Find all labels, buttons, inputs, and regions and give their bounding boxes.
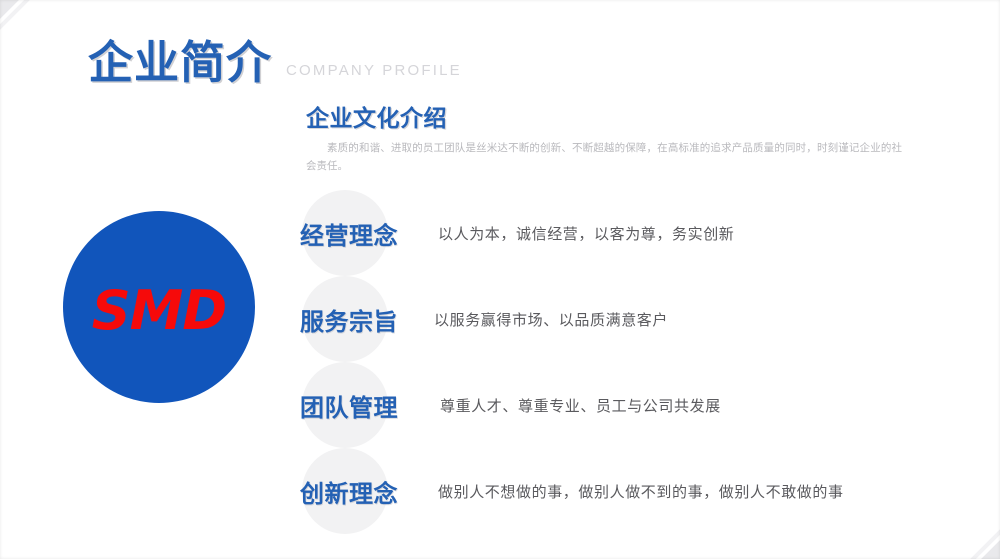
company-logo: SMD: [63, 211, 255, 403]
list-item: 服务宗旨 以服务赢得市场、以品质满意客户: [300, 276, 960, 362]
stripe-gray-icon: [0, 0, 97, 248]
page-title: 企业简介: [88, 40, 272, 85]
value-label-wrap: 经营理念: [300, 190, 418, 276]
value-label-wrap: 创新理念: [300, 448, 418, 534]
value-label: 团队管理: [300, 388, 398, 423]
value-label: 创新理念: [300, 474, 398, 509]
value-text: 尊重人才、尊重专业、员工与公司共发展: [440, 395, 721, 416]
list-item: 团队管理 尊重人才、尊重专业、员工与公司共发展: [300, 362, 960, 448]
logo-text: SMD: [92, 284, 226, 338]
value-label: 经营理念: [300, 216, 398, 251]
value-text: 以服务赢得市场、以品质满意客户: [434, 309, 668, 330]
section-description: 素质的和谐、进取的员工团队是丝米达不断的创新、不断超越的保障，在高标准的追求产品…: [306, 140, 902, 176]
slide-header: 企业简介 COMPANY PROFILE: [88, 40, 462, 85]
values-list: 经营理念 以人为本，诚信经营，以客为尊，务实创新 服务宗旨 以服务赢得市场、以品…: [300, 190, 960, 534]
section-heading: 企业文化介绍: [306, 106, 926, 131]
culture-section: 企业文化介绍 素质的和谐、进取的员工团队是丝米达不断的创新、不断超越的保障，在高…: [306, 106, 926, 176]
value-text: 以人为本，诚信经营，以客为尊，务实创新: [438, 223, 734, 244]
page-subtitle: COMPANY PROFILE: [286, 62, 462, 85]
stripe-blue-icon: [0, 0, 71, 250]
presentation-slide: 企业简介 COMPANY PROFILE SMD 企业文化介绍 素质的和谐、进取…: [0, 0, 1000, 559]
list-item: 创新理念 做别人不想做的事，做别人做不到的事，做别人不敢做的事: [300, 448, 960, 534]
list-item: 经营理念 以人为本，诚信经营，以客为尊，务实创新: [300, 190, 960, 276]
value-text: 做别人不想做的事，做别人做不到的事，做别人不敢做的事: [438, 481, 844, 502]
value-label-wrap: 团队管理: [300, 362, 418, 448]
value-label: 服务宗旨: [300, 302, 398, 337]
value-label-wrap: 服务宗旨: [300, 276, 418, 362]
